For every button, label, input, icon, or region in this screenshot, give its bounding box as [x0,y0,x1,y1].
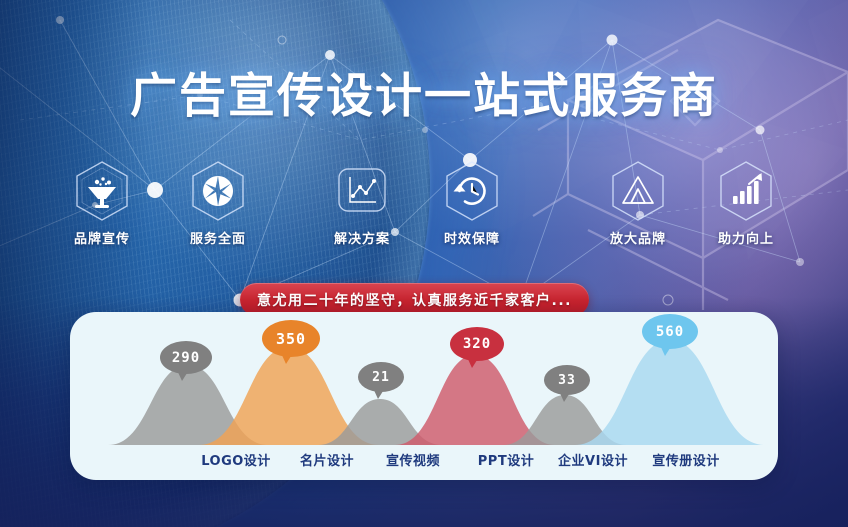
x-axis-labels: LOGO设计 名片设计 宣传视频 PPT设计 企业VI设计 宣传册设计 [70,450,778,470]
clock-rotate-icon [443,160,501,222]
value-bubble: 290 [160,341,212,374]
feature-item-solutions[interactable]: 解决方案 [316,160,408,247]
feature-item-boost-upward[interactable]: 助力向上 [700,160,792,247]
value-bubble-tail [559,391,571,402]
feature-item-brand-promotion[interactable]: 品牌宣传 [56,160,148,247]
page-title: 广告宣传设计一站式服务商 [0,57,848,126]
feature-label: 解决方案 [316,228,408,247]
value-bubble-tail [467,357,479,368]
chart-card: 2903502132033560 LOGO设计 名片设计 宣传视频 PPT设计 … [70,312,778,480]
value-bubble-tail [660,345,672,356]
poster-stage: 广告宣传设计一站式服务商 品牌宣传 [0,0,848,527]
value-bubble: 320 [450,327,504,361]
promo-banner-text: 意尤用二十年的坚守，认真服务近千家客户... [257,290,572,310]
feature-item-amplify-brand[interactable]: 放大品牌 [592,160,684,247]
bar-growth-icon [717,160,775,222]
feature-item-full-service[interactable]: 服务全面 [172,160,264,247]
value-bubble: 33 [544,365,590,395]
feature-label: 服务全面 [172,228,264,247]
value-bubble: 350 [262,320,320,357]
value-bubble-text: 350 [262,320,320,357]
value-bubble-text: 320 [450,327,504,361]
value-bubble: 21 [358,362,404,392]
aperture-icon [189,160,247,222]
feature-label: 放大品牌 [592,228,684,247]
megaphone-icon [73,160,131,222]
feature-item-timeliness[interactable]: 时效保障 [426,160,518,247]
feature-icon-row: 品牌宣传 服务全面 [0,160,848,252]
feature-label: 助力向上 [700,228,792,247]
value-bubble-tail [373,388,385,399]
value-bubble-tail [177,370,189,381]
pyramid-icon [609,160,667,222]
value-bubble-text: 560 [642,314,698,349]
feature-label: 品牌宣传 [56,228,148,247]
value-bubble-tail [281,353,293,364]
x-label: 宣传册设计 [621,450,751,469]
value-bubble: 560 [642,314,698,349]
feature-label: 时效保障 [426,228,518,247]
line-chart-icon [333,160,391,222]
